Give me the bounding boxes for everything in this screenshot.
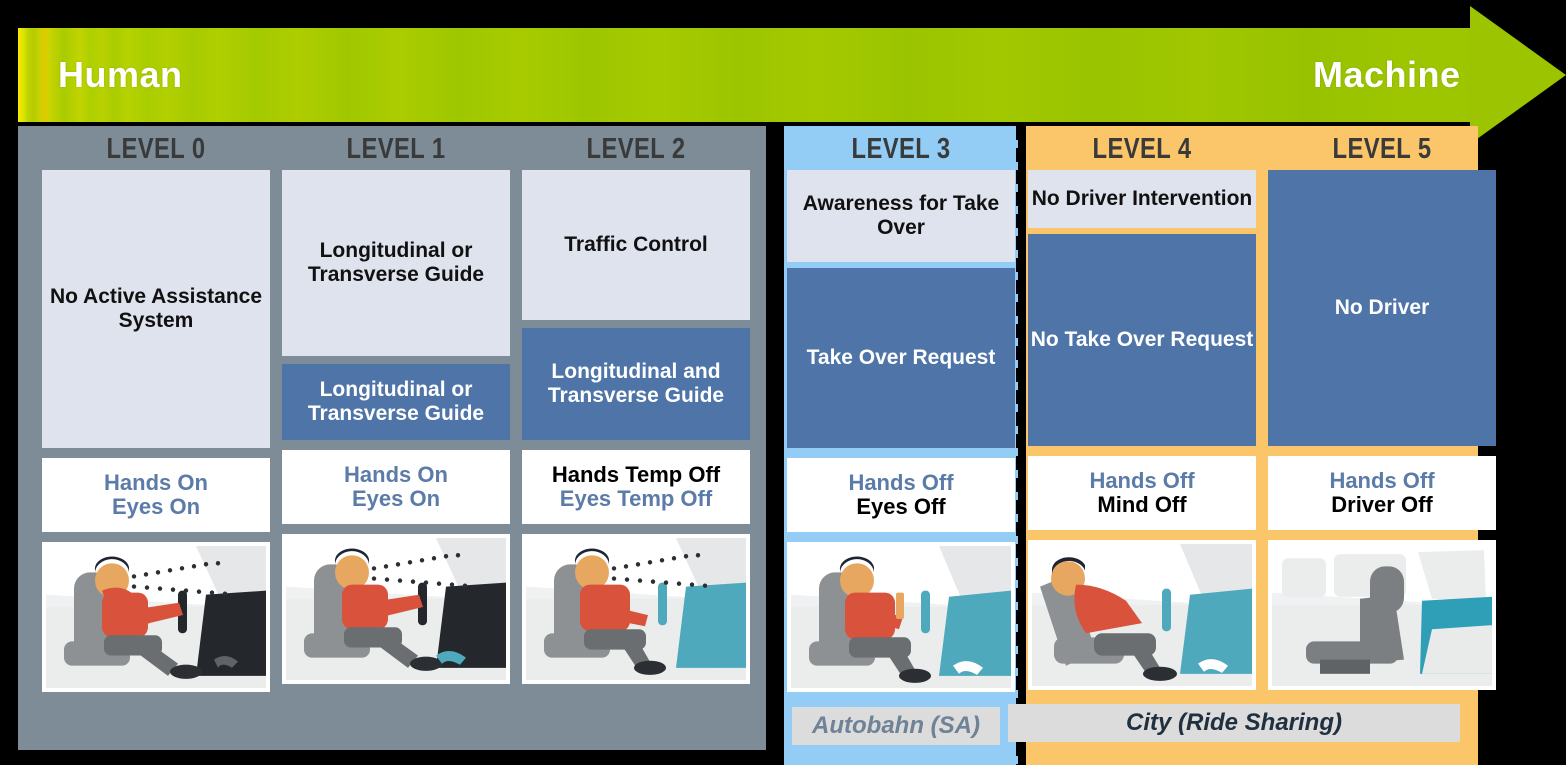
status-eyes-level-0: Eyes On — [112, 495, 200, 519]
automation-box-level-2: Longitudinal and Transverse Guide — [522, 328, 750, 440]
status-box-level-2: Hands Temp Off Eyes Temp Off — [522, 450, 750, 524]
arrow-body — [18, 28, 1492, 122]
capability-box-level-4: No Driver Intervention — [1028, 170, 1256, 228]
status-hands-level-4: Hands Off — [1089, 469, 1194, 493]
status-driver-level-5: Driver Off — [1331, 493, 1432, 517]
column-level-5[interactable]: LEVEL 5 No Driver Hands Off Driver Off — [1268, 126, 1496, 690]
status-eyes-level-3: Eyes Off — [856, 495, 945, 519]
illustration-level-4 — [1028, 540, 1256, 690]
status-box-level-3: Hands Off Eyes Off — [787, 458, 1015, 532]
automation-box-level-3: Take Over Request — [787, 268, 1015, 448]
level-title-4: LEVEL 4 — [1049, 126, 1236, 170]
automation-box-level-5: No Driver — [1268, 170, 1496, 446]
status-eyes-level-1: Eyes On — [352, 487, 440, 511]
status-box-level-1: Hands On Eyes On — [282, 450, 510, 524]
dashed-divider-left — [770, 126, 778, 765]
status-eyes-level-2: Eyes Temp Off — [560, 487, 712, 511]
human-label: Human — [58, 54, 183, 96]
capability-box-level-1: Longitudinal or Transverse Guide — [282, 170, 510, 356]
level-title-1: LEVEL 1 — [303, 126, 490, 170]
machine-label: Machine — [1313, 54, 1461, 96]
column-level-0[interactable]: LEVEL 0 No Active Assistance System Hand… — [42, 126, 270, 692]
scenario-autobahn: Autobahn (SA) — [792, 707, 1000, 745]
status-hands-level-0: Hands On — [104, 471, 208, 495]
capability-box-level-3: Awareness for Take Over — [787, 170, 1015, 262]
status-box-level-5: Hands Off Driver Off — [1268, 456, 1496, 530]
automation-box-level-4: No Take Over Request — [1028, 234, 1256, 446]
level-title-5: LEVEL 5 — [1289, 126, 1476, 170]
arrow-head-icon — [1470, 6, 1566, 144]
driver-using-phone-icon — [791, 546, 1011, 688]
level-title-2: LEVEL 2 — [543, 126, 730, 170]
level-title-0: LEVEL 0 — [63, 126, 250, 170]
status-hands-level-1: Hands On — [344, 463, 448, 487]
status-hands-level-5: Hands Off — [1329, 469, 1434, 493]
status-hands-level-2: Hands Temp Off — [552, 463, 720, 487]
status-mind-level-4: Mind Off — [1097, 493, 1186, 517]
column-level-4[interactable]: LEVEL 4 No Driver Intervention No Take O… — [1028, 126, 1256, 690]
capability-box-level-2: Traffic Control — [522, 170, 750, 320]
dashed-divider-right — [1016, 126, 1024, 765]
illustration-level-0 — [42, 542, 270, 692]
column-level-2[interactable]: LEVEL 2 Traffic Control Longitudinal and… — [522, 126, 750, 684]
scenario-city: City (Ride Sharing) — [1008, 704, 1460, 742]
status-box-level-4: Hands Off Mind Off — [1028, 456, 1256, 530]
column-level-3[interactable]: LEVEL 3 Awareness for Take Over Take Ove… — [787, 126, 1015, 692]
levels-matrix: LEVEL 0 No Active Assistance System Hand… — [18, 126, 1478, 765]
illustration-level-1 — [282, 534, 510, 684]
status-hands-level-3: Hands Off — [848, 471, 953, 495]
illustration-level-2 — [522, 534, 750, 684]
illustration-level-3 — [787, 542, 1015, 692]
human-to-machine-arrow: Human Machine — [18, 28, 1566, 122]
driver-hands-off-eyes-on-icon — [526, 538, 746, 680]
capability-box-level-0: No Active Assistance System — [42, 170, 270, 448]
driver-hands-on-wheel-icon — [46, 546, 266, 688]
column-level-1[interactable]: LEVEL 1 Longitudinal or Transverse Guide… — [282, 126, 510, 684]
illustration-level-5 — [1268, 540, 1496, 690]
driver-reclined-sleeping-icon — [1032, 544, 1252, 686]
status-box-level-0: Hands On Eyes On — [42, 458, 270, 532]
driver-hands-on-wheel-icon — [286, 538, 506, 680]
automation-box-level-1: Longitudinal or Transverse Guide — [282, 364, 510, 440]
level-title-3: LEVEL 3 — [808, 126, 995, 170]
automation-levels-diagram: Human Machine LEVEL 0 No Active Assistan… — [0, 0, 1566, 765]
empty-seat-icon — [1272, 544, 1492, 686]
